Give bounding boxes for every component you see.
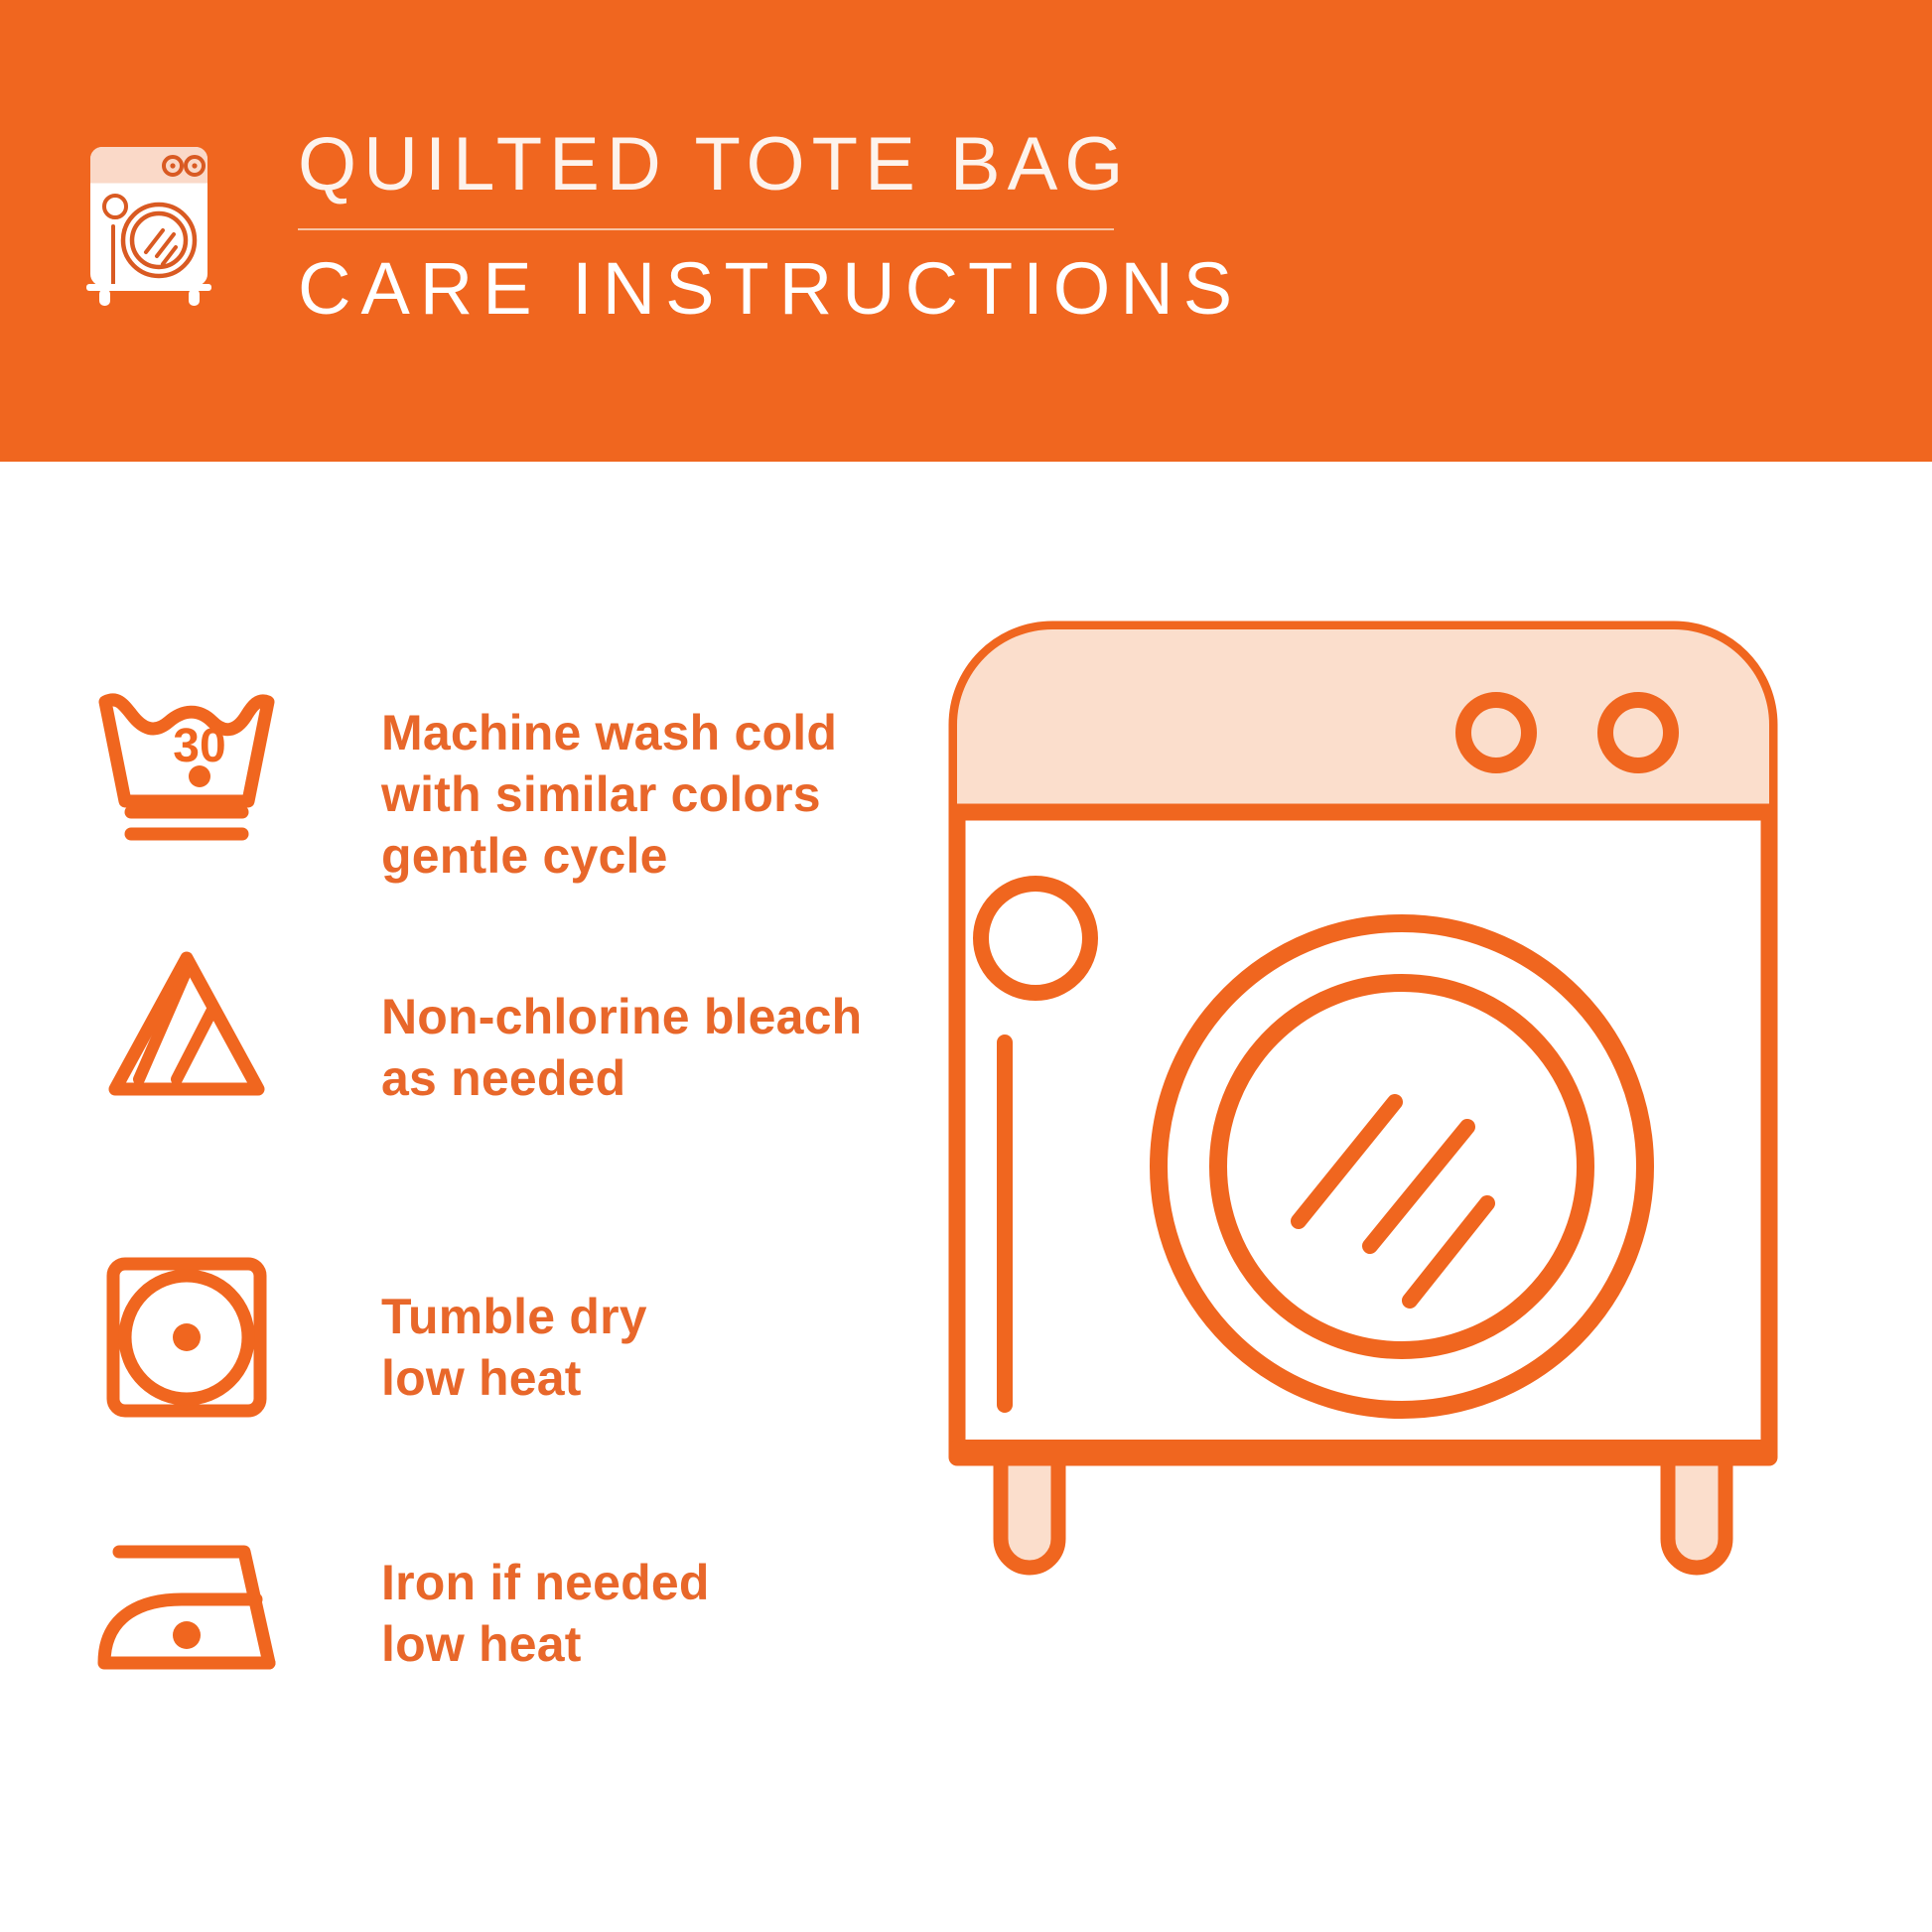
tumble-dry-low-icon [87, 1246, 286, 1425]
iron-low-heat-icon [87, 1514, 286, 1693]
wash-tub-30-gentle-icon: 30 [87, 680, 286, 859]
header-title-block: QUILTED TOTE BAG CARE INSTRUCTIONS [298, 127, 1242, 326]
non-chlorine-bleach-triangle-icon [87, 938, 286, 1117]
knob-left[interactable] [1463, 700, 1529, 765]
washing-machine-illustration [943, 616, 1837, 1608]
washing-machine-icon [77, 135, 236, 306]
care-item-label: Iron if needed low heat [381, 1552, 710, 1675]
washing-machine-svg [943, 616, 1837, 1608]
care-item: Iron if needed low heat [87, 1514, 931, 1693]
care-item-label: Non-chlorine bleach as needed [381, 986, 862, 1109]
header-banner: QUILTED TOTE BAG CARE INSTRUCTIONS [0, 0, 1932, 462]
knob-right[interactable] [1605, 700, 1671, 765]
care-item-label: Tumble dry low heat [381, 1286, 647, 1409]
wash-temp-label: 30 [173, 720, 225, 772]
care-item-label: Machine wash cold with similar colors ge… [381, 702, 837, 887]
care-item: 30 Machine wash cold with similar colors… [87, 680, 931, 887]
title-divider [298, 228, 1114, 230]
care-item: Tumble dry low heat [87, 1246, 931, 1425]
page-title: QUILTED TOTE BAG [298, 127, 1242, 203]
page-subtitle: CARE INSTRUCTIONS [298, 252, 1242, 326]
machine-base-bar [949, 1440, 1777, 1461]
header-content: QUILTED TOTE BAG CARE INSTRUCTIONS [77, 127, 1242, 326]
care-item: Non-chlorine bleach as needed [87, 938, 931, 1117]
